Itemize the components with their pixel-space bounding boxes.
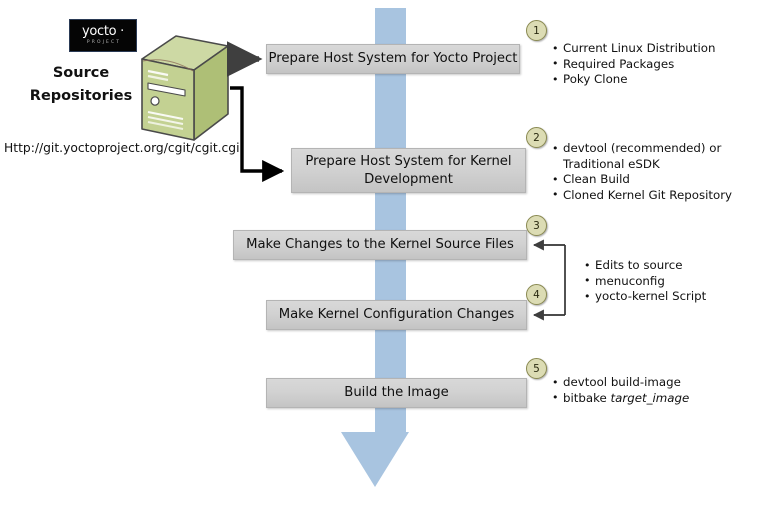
step-box-3[interactable]: Make Changes to the Kernel Source Files (233, 230, 527, 260)
list-item: menuconfig (584, 274, 764, 290)
list-item: Clean Build (552, 172, 757, 188)
step5-bullet-list: devtool build-image bitbake target_image (552, 375, 762, 406)
step-box-4[interactable]: Make Kernel Configuration Changes (266, 300, 527, 330)
list-item: Poky Clone (552, 72, 764, 88)
step1-bullet-list: Current Linux Distribution Required Pack… (552, 41, 764, 88)
list-item: yocto-kernel Script (584, 289, 764, 305)
step-number-5: 5 (526, 358, 547, 379)
list-item: Current Linux Distribution (552, 41, 764, 57)
step2-bullet-list: devtool (recommended) or Traditional eSD… (552, 141, 757, 203)
list-item: bitbake target_image (552, 391, 762, 407)
step-number-2: 2 (526, 127, 547, 148)
arrow-server-to-step2 (230, 88, 282, 171)
list-item: Cloned Kernel Git Repository (552, 188, 757, 204)
step-box-2[interactable]: Prepare Host System for Kernel Developme… (291, 148, 526, 193)
step-box-5[interactable]: Build the Image (266, 378, 527, 408)
list-item: devtool (recommended) or Traditional eSD… (552, 141, 757, 172)
list-item: devtool build-image (552, 375, 762, 391)
list-item: Required Packages (552, 57, 764, 73)
bitbake-command-prefix: bitbake (563, 391, 611, 405)
workflow-diagram: yocto · PROJECT Source Repositories Http… (0, 0, 769, 517)
steps34-bullet-list: Edits to source menuconfig yocto-kernel … (584, 258, 764, 305)
step-box-1[interactable]: Prepare Host System for Yocto Project (266, 44, 520, 74)
step-number-1: 1 (526, 20, 547, 41)
step-number-3: 3 (526, 215, 547, 236)
list-item: Edits to source (584, 258, 764, 274)
bitbake-target-param: target_image (611, 391, 690, 405)
step-number-4: 4 (526, 284, 547, 305)
